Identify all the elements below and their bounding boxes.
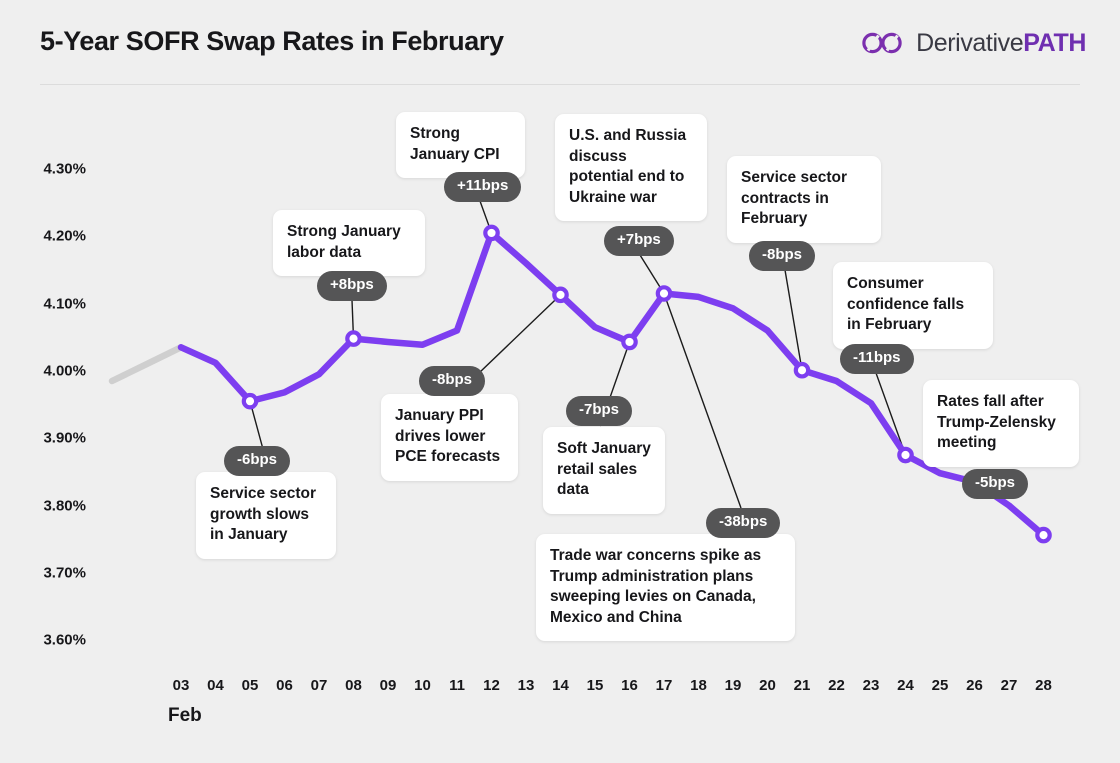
x-axis-tick-label: 17 bbox=[656, 677, 673, 694]
annotation-note: Soft January retail sales data bbox=[543, 427, 665, 514]
y-axis-tick-label: 4.10% bbox=[0, 295, 86, 312]
x-axis-tick-label: 03 bbox=[173, 677, 190, 694]
y-axis-tick-label: 4.00% bbox=[0, 362, 86, 379]
annotation-badge: -6bps bbox=[224, 446, 290, 476]
annotation-note: Service sector contracts in February bbox=[727, 156, 881, 243]
x-axis-tick-label: 19 bbox=[725, 677, 742, 694]
y-axis-tick-label: 3.80% bbox=[0, 497, 86, 514]
y-axis-tick-label: 4.30% bbox=[0, 161, 86, 178]
x-axis-tick-label: 24 bbox=[897, 677, 914, 694]
x-axis-tick-label: 28 bbox=[1035, 677, 1052, 694]
data-point-marker[interactable] bbox=[658, 287, 670, 299]
annotation-badge: -5bps bbox=[962, 469, 1028, 499]
y-axis-tick-label: 3.90% bbox=[0, 430, 86, 447]
data-point-marker[interactable] bbox=[899, 449, 911, 461]
annotation-note: Trade war concerns spike as Trump admini… bbox=[536, 534, 795, 641]
annotation-badge: +11bps bbox=[444, 172, 521, 202]
x-axis-tick-label: 04 bbox=[207, 677, 224, 694]
x-axis-tick-label: 09 bbox=[380, 677, 397, 694]
annotation-note: Consumer confidence falls in February bbox=[833, 262, 993, 349]
x-axis-tick-label: 10 bbox=[414, 677, 431, 694]
x-axis-tick-label: 27 bbox=[1001, 677, 1018, 694]
lead-in-series bbox=[112, 347, 181, 381]
data-point-marker[interactable] bbox=[623, 336, 635, 348]
x-axis-tick-label: 14 bbox=[552, 677, 569, 694]
annotation-badge: +8bps bbox=[317, 271, 387, 301]
x-axis-tick-label: 07 bbox=[311, 677, 328, 694]
data-point-marker[interactable] bbox=[1037, 529, 1049, 541]
annotation-leader-line bbox=[664, 294, 741, 508]
x-axis-title: Feb bbox=[168, 705, 202, 727]
x-axis-tick-label: 22 bbox=[828, 677, 845, 694]
annotation-note: Service sector growth slows in January bbox=[196, 472, 336, 559]
annotation-note: Rates fall after Trump-Zelensky meeting bbox=[923, 380, 1079, 467]
x-axis-tick-label: 05 bbox=[242, 677, 259, 694]
x-axis-tick-label: 21 bbox=[794, 677, 811, 694]
y-axis-tick-label: 4.20% bbox=[0, 228, 86, 245]
x-axis-tick-label: 25 bbox=[932, 677, 949, 694]
annotation-badge: -38bps bbox=[706, 508, 780, 538]
x-axis-tick-label: 08 bbox=[345, 677, 362, 694]
annotation-note: U.S. and Russia discuss potential end to… bbox=[555, 114, 707, 221]
annotation-badge: +7bps bbox=[604, 226, 674, 256]
annotation-badge: -7bps bbox=[566, 396, 632, 426]
data-point-marker[interactable] bbox=[244, 395, 256, 407]
x-axis-tick-label: 12 bbox=[483, 677, 500, 694]
annotation-badge: -8bps bbox=[419, 366, 485, 396]
x-axis-tick-label: 23 bbox=[863, 677, 880, 694]
x-axis-tick-label: 13 bbox=[518, 677, 535, 694]
annotation-note: January PPI drives lower PCE forecasts bbox=[381, 394, 518, 481]
annotation-badge: -11bps bbox=[840, 344, 914, 374]
annotation-badge: -8bps bbox=[749, 241, 815, 271]
x-axis-tick-label: 11 bbox=[449, 677, 465, 694]
x-axis-tick-label: 06 bbox=[276, 677, 293, 694]
annotation-note: Strong January labor data bbox=[273, 210, 425, 276]
x-axis-tick-label: 18 bbox=[690, 677, 707, 694]
data-point-marker[interactable] bbox=[347, 332, 359, 344]
x-axis-tick-label: 20 bbox=[759, 677, 776, 694]
data-point-marker[interactable] bbox=[485, 227, 497, 239]
x-axis-tick-label: 16 bbox=[621, 677, 638, 694]
data-point-marker[interactable] bbox=[554, 289, 566, 301]
data-point-marker[interactable] bbox=[796, 364, 808, 376]
y-axis-tick-label: 3.70% bbox=[0, 564, 86, 581]
x-axis-tick-label: 15 bbox=[587, 677, 604, 694]
annotation-note: Strong January CPI bbox=[396, 112, 525, 178]
x-axis-tick-label: 26 bbox=[966, 677, 983, 694]
y-axis-tick-label: 3.60% bbox=[0, 632, 86, 649]
